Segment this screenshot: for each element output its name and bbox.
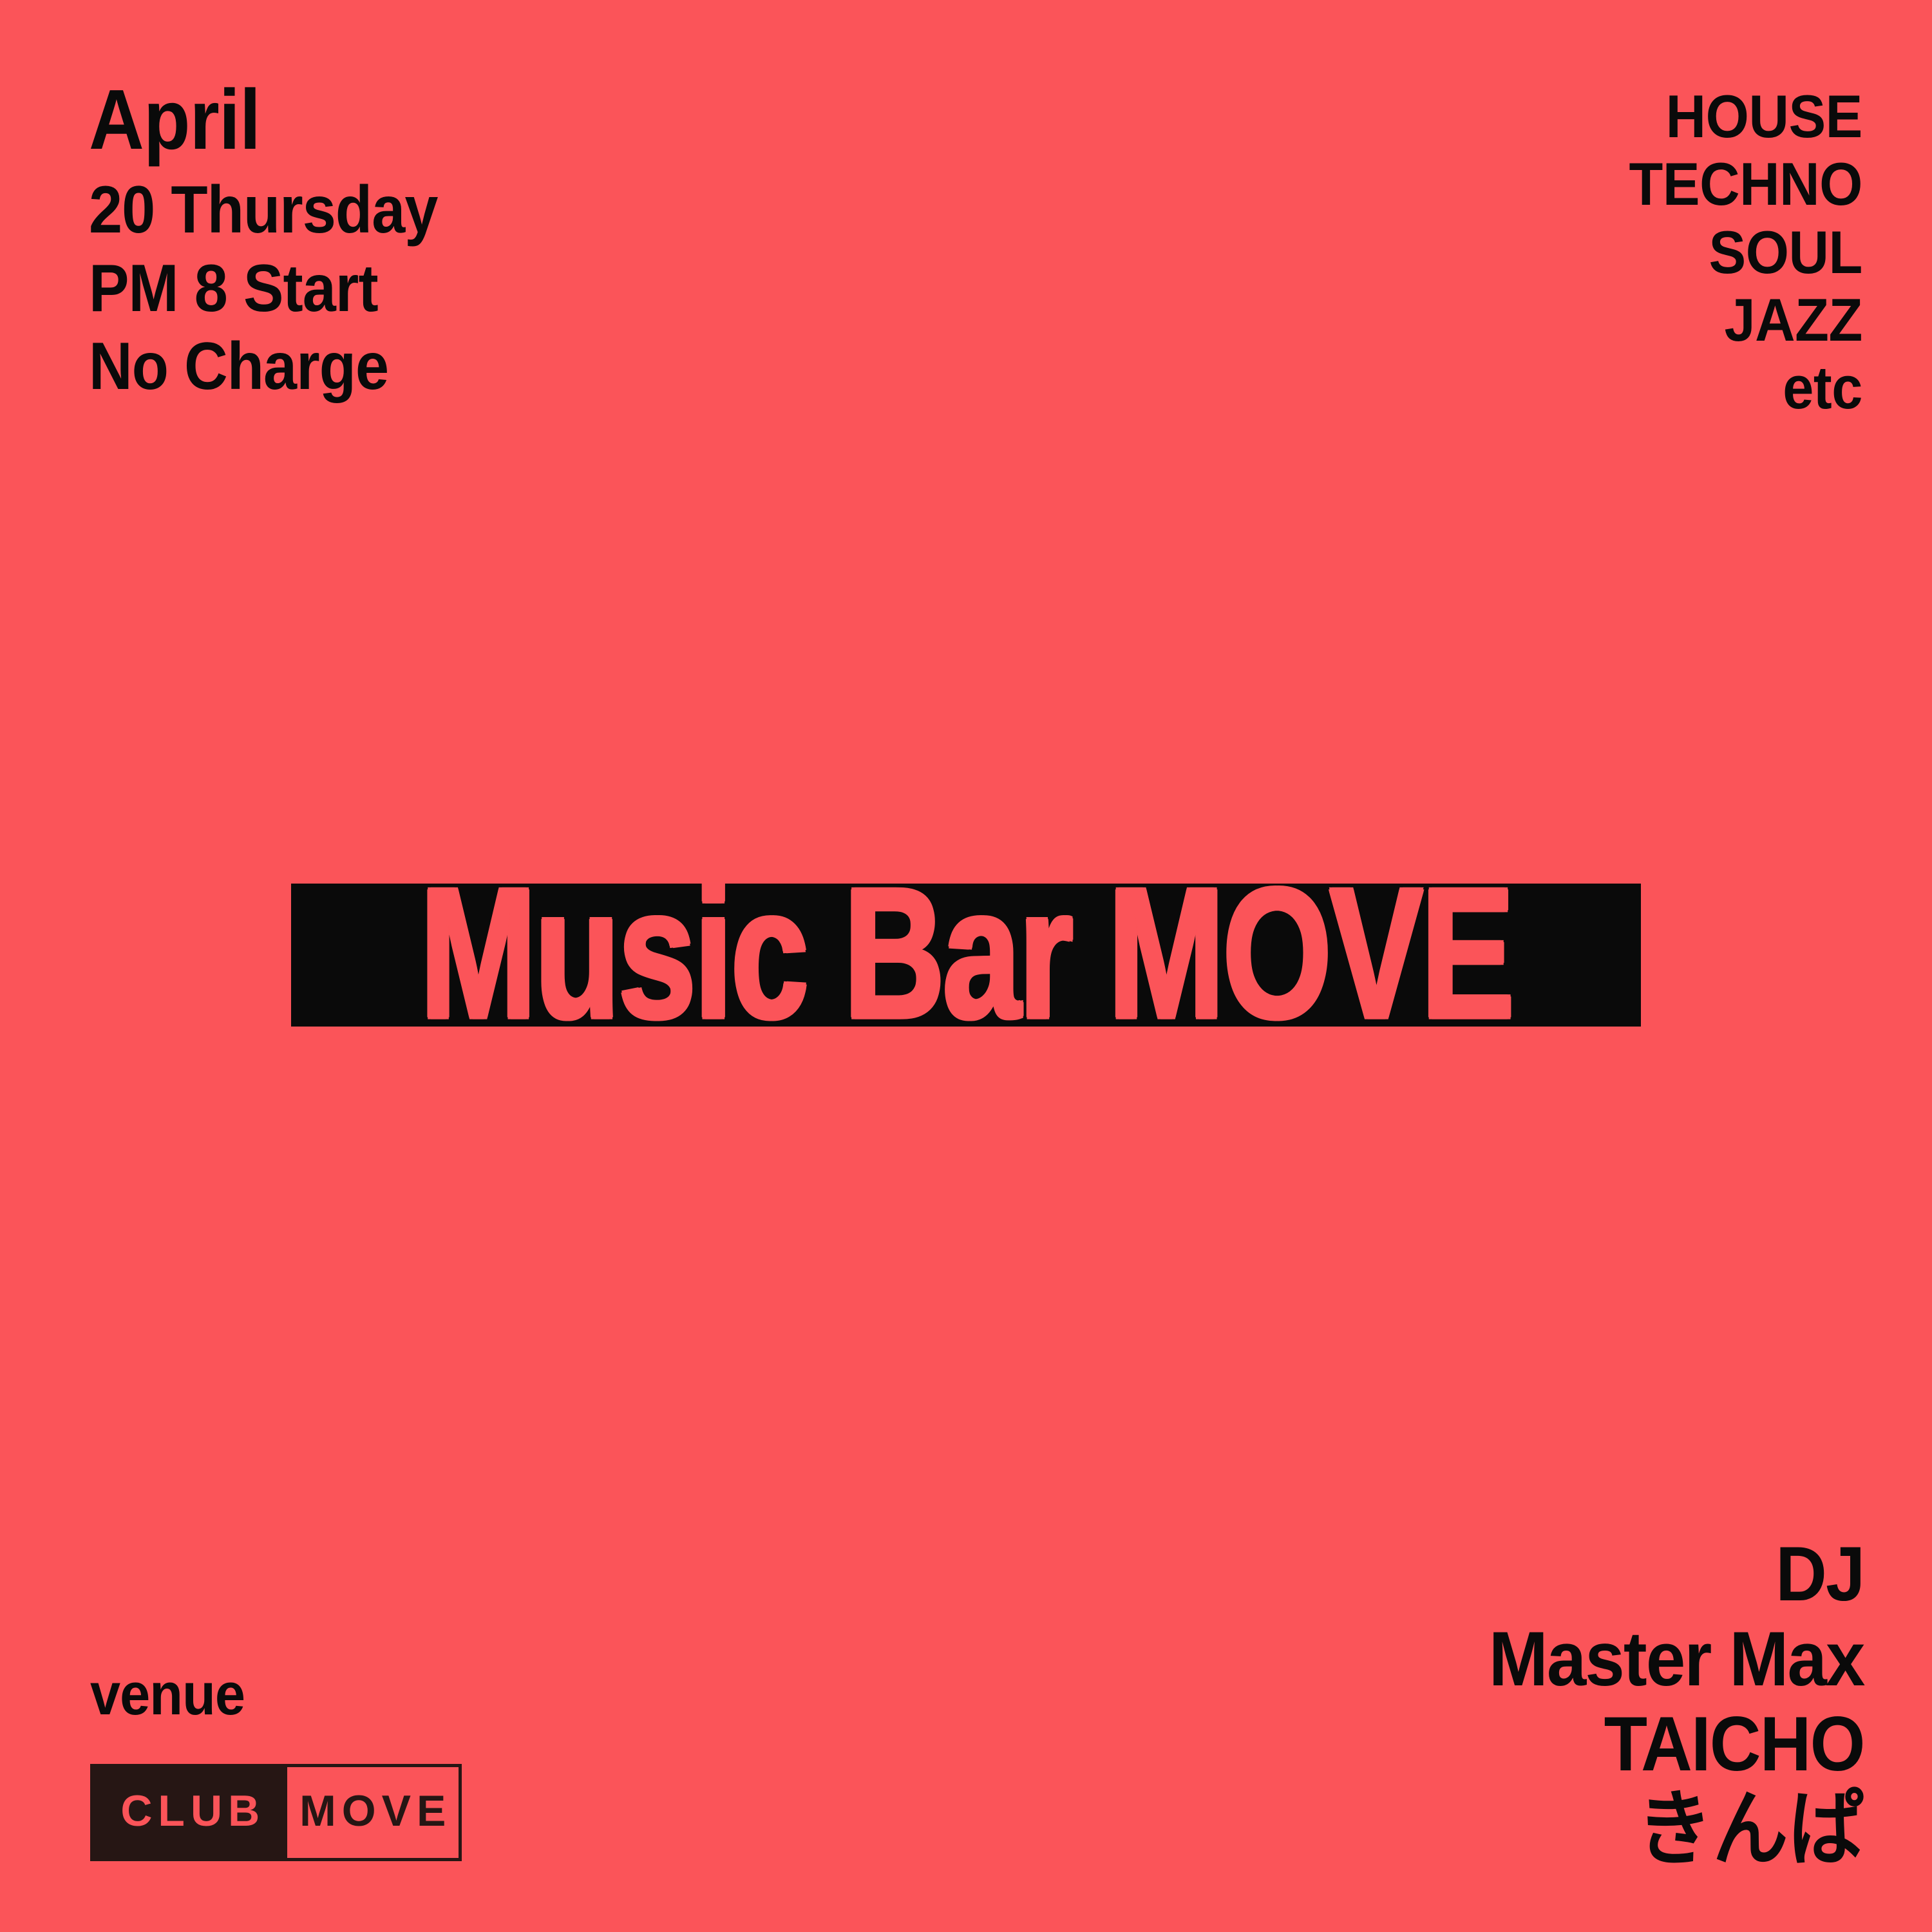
event-month: April: [89, 77, 438, 162]
genre-item-etc: etc: [1629, 354, 1862, 421]
logo-club-text: CLUB: [115, 1789, 265, 1833]
page-title: Music Bar MOVE: [420, 880, 1512, 1029]
event-day-line: 20 Thursday: [89, 171, 438, 250]
club-move-logo: CLUB MOVE: [90, 1764, 462, 1861]
title-banner: Music Bar MOVE: [291, 884, 1641, 1027]
logo-move-text: MOVE: [294, 1789, 451, 1833]
genre-item-jazz: JAZZ: [1629, 286, 1862, 354]
event-start-time-line: PM 8 Start: [89, 250, 438, 328]
genre-item-house: HOUSE: [1629, 82, 1862, 150]
event-price-line: No Charge: [89, 328, 438, 406]
dj-lineup-block: DJ Master Max TAICHO きんぱ: [1456, 1531, 1864, 1873]
venue-block: venue CLUB MOVE: [90, 1665, 462, 1861]
event-date-details: 20 Thursday PM 8 Start No Charge: [89, 171, 477, 406]
dj-name-kinpa: きんぱ: [1489, 1786, 1864, 1873]
logo-move-panel: MOVE: [287, 1767, 459, 1858]
venue-label: venue: [90, 1665, 432, 1724]
dj-name-master-max: Master Max: [1489, 1616, 1864, 1701]
genre-item-techno: TECHNO: [1629, 150, 1862, 218]
flyer-canvas: April 20 Thursday PM 8 Start No Charge H…: [0, 0, 1932, 1932]
dj-name-taicho: TAICHO: [1489, 1701, 1864, 1786]
genre-list: HOUSE TECHNO SOUL JAZZ etc: [1609, 82, 1862, 421]
genre-item-soul: SOUL: [1629, 218, 1862, 286]
dj-heading: DJ: [1489, 1531, 1864, 1616]
logo-club-panel: CLUB: [93, 1767, 287, 1858]
event-date-block: April 20 Thursday PM 8 Start No Charge: [89, 77, 477, 406]
